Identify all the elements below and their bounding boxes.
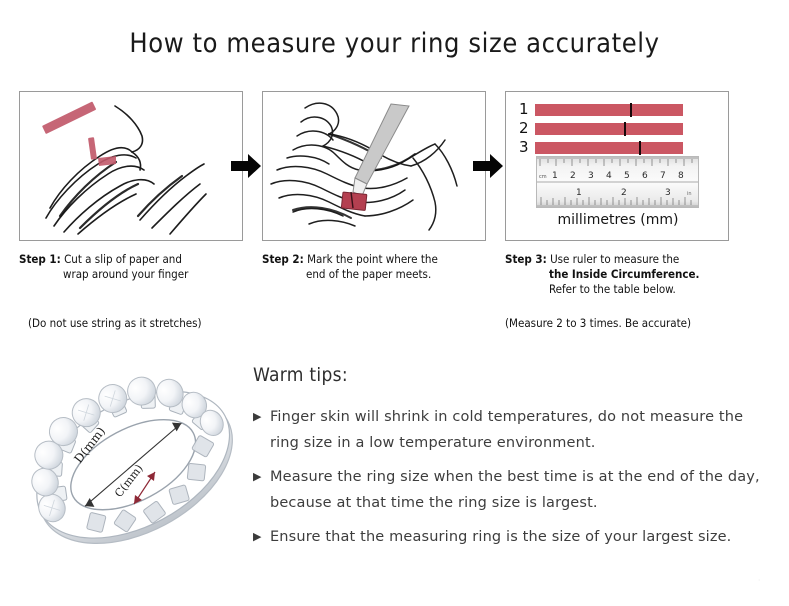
svg-text:1: 1 [552,171,558,181]
svg-text:5: 5 [624,171,630,181]
arrow-right-icon-1 [231,153,261,179]
step-3-line-2: the Inside Circumference. [549,267,699,281]
strip-mark-2 [624,122,626,136]
warm-tip-item: ▶ Measure the ring size when the best ti… [253,464,773,516]
hand-with-paper-strip-icon [20,92,242,240]
corner-artifact: · [758,578,765,584]
paper-strip-1 [535,104,683,116]
step-1-line-1: Cut a slip of paper and [64,252,182,266]
hands-marking-paper-icon [263,92,485,240]
svg-text:1: 1 [576,188,582,198]
strip-number-3: 3 [519,140,535,155]
ruler-unit-label: millimetres (mm) [506,212,729,228]
steps-row: 1 2 3 [0,91,789,243]
page-title: How to measure your ring size accurately [0,28,789,59]
svg-text:7: 7 [660,171,666,181]
svg-text:in: in [687,191,692,197]
step-2-line-2: end of the paper meets. [306,267,431,281]
step-1-illustration-panel [19,91,243,241]
measured-strip-row-1: 1 [519,102,683,117]
step-3-line-3: Refer to the table below. [549,282,676,296]
ruler-icon: 12 34 56 78 cm 123 in [536,156,699,208]
svg-text:2: 2 [621,188,627,198]
step-3-caption: Step 3: Use ruler to measure the the Ins… [505,252,770,297]
paper-strip-3 [535,142,683,154]
step-1-line-2: wrap around your finger [63,267,188,281]
bullet-triangle-icon: ▶ [253,524,270,550]
svg-text:2: 2 [570,171,576,181]
svg-text:3: 3 [588,171,594,181]
step-2-illustration-panel [262,91,486,241]
svg-text:3: 3 [665,188,671,198]
step-3-line-1: Use ruler to measure the [550,252,679,266]
paper-strip-2 [535,123,683,135]
strip-number-1: 1 [519,102,535,117]
step-2-caption: Step 2: Mark the point where the end of … [262,252,494,282]
step-1-lead: Step 1: [19,252,61,266]
measured-strip-row-3: 3 [519,140,683,155]
ring-diagram: D(mm) C(mm) [22,352,250,580]
step-3-illustration-panel: 1 2 3 [505,91,729,241]
strip-mark-3 [639,141,641,155]
arrow-right-icon-2 [473,153,503,179]
warm-tip-text-1: Finger skin will shrink in cold temperat… [270,404,773,456]
warm-tip-text-2: Measure the ring size when the best time… [270,464,773,516]
warm-tips-heading: Warm tips: [253,364,773,386]
bullet-triangle-icon: ▶ [253,464,270,490]
step-1-note: (Do not use string as it stretches) [28,316,202,330]
eternity-ring-icon: D(mm) C(mm) [22,352,250,580]
step-3-lead: Step 3: [505,252,547,266]
svg-text:cm: cm [539,174,547,180]
step-2-lead: Step 2: [262,252,304,266]
step-1-caption: Step 1: Cut a slip of paper and wrap aro… [19,252,251,282]
warm-tip-item: ▶ Finger skin will shrink in cold temper… [253,404,773,456]
warm-tip-text-3: Ensure that the measuring ring is the si… [270,524,731,550]
step-2-line-1: Mark the point where the [307,252,438,266]
step-3-note: (Measure 2 to 3 times. Be accurate) [505,316,691,330]
strip-number-2: 2 [519,121,535,136]
measured-strip-row-2: 2 [519,121,683,136]
bullet-triangle-icon: ▶ [253,404,270,430]
svg-text:8: 8 [678,171,684,181]
svg-text:4: 4 [606,171,612,181]
warm-tips-section: Warm tips: ▶ Finger skin will shrink in … [253,364,773,558]
svg-text:6: 6 [642,171,648,181]
warm-tip-item: ▶ Ensure that the measuring ring is the … [253,524,773,550]
strip-mark-1 [630,103,632,117]
